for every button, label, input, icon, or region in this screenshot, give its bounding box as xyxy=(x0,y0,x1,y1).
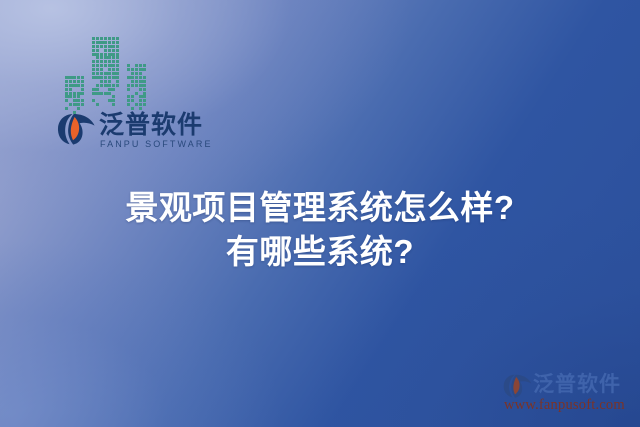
mosaic-pixel xyxy=(143,95,146,98)
mosaic-pixel xyxy=(96,56,99,59)
mosaic-pixel xyxy=(135,72,138,75)
mosaic-pixel xyxy=(81,88,84,91)
mosaic-pixel xyxy=(100,84,103,87)
mosaic-pixel xyxy=(104,92,111,95)
mosaic-pixel xyxy=(112,84,115,87)
mosaic-pixel xyxy=(139,103,142,106)
mosaic-pixel xyxy=(96,72,99,75)
mosaic-pixel xyxy=(108,56,111,59)
mosaic-pixel xyxy=(96,64,99,67)
mosaic-pixel xyxy=(112,68,115,71)
mosaic-pixel xyxy=(104,76,107,79)
mosaic-pixel xyxy=(112,95,115,98)
mosaic-pixel xyxy=(112,37,115,40)
mosaic-pixel xyxy=(81,84,84,87)
mosaic-pixel xyxy=(65,84,68,87)
mosaic-pixel xyxy=(108,72,111,75)
mosaic-pixel xyxy=(108,60,111,63)
mosaic-pixel xyxy=(139,99,142,102)
mosaic-pixel xyxy=(112,103,115,106)
fanpu-logo-name-cn: 泛普软件 xyxy=(99,111,203,139)
mosaic-pixel xyxy=(77,95,80,98)
mosaic-pixel xyxy=(127,84,130,87)
mosaic-pixel xyxy=(139,107,142,110)
headline-line-2: 有哪些系统? xyxy=(0,230,640,274)
mosaic-pixel xyxy=(77,80,80,83)
mosaic-pixel xyxy=(81,76,84,79)
mosaic-pixel xyxy=(104,49,107,52)
mosaic-pixel xyxy=(116,45,119,48)
mosaic-pixel xyxy=(108,80,111,83)
mosaic-pixel xyxy=(135,64,138,67)
watermark-url: www.fanpusoft.com xyxy=(504,397,625,414)
mosaic-pixel xyxy=(143,84,146,87)
mosaic-pixel xyxy=(108,41,111,44)
fanpu-logo: 泛普软件 FANPU SOFTWARE xyxy=(57,111,183,161)
mosaic-pixel xyxy=(143,88,146,91)
mosaic-pixel xyxy=(127,95,130,98)
mosaic-pixel xyxy=(92,41,95,44)
mosaic-pixel xyxy=(139,88,142,91)
mosaic-pixel xyxy=(108,37,111,40)
mosaic-pixel xyxy=(139,76,142,79)
mosaic-pixel xyxy=(127,64,130,67)
mosaic-pixel xyxy=(100,45,103,48)
mosaic-pixel xyxy=(92,68,95,71)
mosaic-pixel xyxy=(116,80,119,83)
mosaic-pixel xyxy=(143,68,146,71)
mosaic-pixel xyxy=(104,53,107,56)
mosaic-pixel xyxy=(92,60,95,63)
mosaic-pixel xyxy=(143,76,146,79)
mosaic-pixel xyxy=(100,72,103,75)
mosaic-pixel xyxy=(104,64,107,67)
mosaic-pixel xyxy=(112,41,115,44)
mosaic-pixel xyxy=(73,92,76,95)
mosaic-pixel xyxy=(131,107,134,110)
mosaic-pixel xyxy=(73,80,76,83)
fanpu-watermark-mark xyxy=(503,374,533,398)
mosaic-pixel xyxy=(65,88,68,91)
mosaic-pixel xyxy=(116,49,119,52)
mosaic-pixel xyxy=(143,99,146,102)
mosaic-pixel xyxy=(116,84,119,87)
mosaic-pixel xyxy=(96,92,103,95)
mosaic-pixel xyxy=(116,41,119,44)
mosaic-pixel xyxy=(69,103,72,106)
mosaic-pixel xyxy=(65,99,68,102)
mosaic-pixel xyxy=(112,60,115,63)
mosaic-pixel xyxy=(135,80,138,83)
mosaic-pixel xyxy=(127,88,130,91)
mosaic-pixel xyxy=(127,99,130,102)
mosaic-pixel xyxy=(112,88,115,91)
mosaic-pixel xyxy=(100,53,103,56)
mosaic-pixel xyxy=(116,53,119,56)
mosaic-pixel xyxy=(81,103,84,106)
mosaic-pixel xyxy=(81,99,84,102)
mosaic-pixel xyxy=(96,45,99,48)
mosaic-pixel xyxy=(96,53,99,56)
mosaic-pixel xyxy=(131,80,134,83)
mosaic-pixel xyxy=(112,56,115,59)
mosaic-pixel xyxy=(100,56,103,59)
mosaic-pixel xyxy=(116,72,119,75)
mosaic-pixel xyxy=(77,76,80,79)
mosaic-pixel xyxy=(104,80,107,83)
mosaic-pixel xyxy=(96,68,99,71)
promo-banner: 泛普软件 FANPU SOFTWARE 景观项目管理系统怎么样? 有哪些系统? … xyxy=(0,0,640,427)
mosaic-pixel xyxy=(135,84,138,87)
mosaic-pixel xyxy=(77,107,80,110)
mosaic-pixel xyxy=(100,37,103,40)
mosaic-pixel xyxy=(131,95,134,98)
mosaic-pixel xyxy=(100,60,103,63)
mosaic-pixel xyxy=(92,99,95,102)
mosaic-pixel xyxy=(104,37,107,40)
mosaic-pixel xyxy=(92,72,95,75)
mosaic-pixel xyxy=(127,68,130,71)
mosaic-pixel xyxy=(69,92,72,95)
mosaic-pixel xyxy=(116,60,119,63)
mosaic-pixel xyxy=(69,95,72,98)
mosaic-pixel xyxy=(81,80,84,83)
mosaic-pixel xyxy=(104,45,107,48)
fanpu-logo-name-en: FANPU SOFTWARE xyxy=(100,139,213,149)
mosaic-pixel xyxy=(143,103,146,106)
mosaic-pixel xyxy=(108,76,111,79)
mosaic-pixel xyxy=(104,41,107,44)
mosaic-pixel xyxy=(139,64,142,67)
mosaic-pixel xyxy=(77,99,80,102)
mosaic-pixel xyxy=(131,68,134,71)
mosaic-pixel xyxy=(100,76,103,79)
mosaic-pixel xyxy=(112,53,115,56)
mosaic-pixel xyxy=(112,49,115,52)
mosaic-pixel xyxy=(81,92,84,95)
mosaic-pixel xyxy=(108,99,115,102)
mosaic-pixel xyxy=(139,72,142,75)
watermark: 泛普软件 www.fanpusoft.com xyxy=(501,372,633,420)
mosaic-pixel xyxy=(127,103,130,106)
mosaic-pixel xyxy=(77,84,80,87)
mosaic-pixel xyxy=(96,103,99,106)
mosaic-pixel xyxy=(135,76,138,79)
mosaic-pixel xyxy=(135,103,138,106)
mosaic-pixel xyxy=(100,64,103,67)
mosaic-pixel xyxy=(100,68,103,71)
mosaic-pixel xyxy=(92,88,99,91)
mosaic-pixel xyxy=(73,76,76,79)
mosaic-pixel xyxy=(92,49,95,52)
mosaic-pixel xyxy=(131,99,134,102)
headline: 景观项目管理系统怎么样? 有哪些系统? xyxy=(0,186,640,274)
mosaic-pixel xyxy=(112,64,115,67)
mosaic-pixel xyxy=(131,76,134,79)
mosaic-pixel xyxy=(135,68,138,71)
mosaic-pixel xyxy=(96,84,99,87)
mosaic-pixel xyxy=(92,45,95,48)
mosaic-pixel xyxy=(143,92,146,95)
mosaic-pixel xyxy=(65,80,68,83)
mosaic-pixel xyxy=(116,68,119,71)
mosaic-pixel xyxy=(96,49,99,52)
mosaic-pixel xyxy=(143,80,146,83)
mosaic-pixel xyxy=(135,92,138,95)
mosaic-pixel xyxy=(108,49,111,52)
mosaic-pixel xyxy=(112,45,115,48)
mosaic-pixel xyxy=(116,56,119,59)
mosaic-pixel xyxy=(116,37,119,40)
watermark-name-cn: 泛普软件 xyxy=(533,372,621,397)
mosaic-pixel xyxy=(69,88,72,91)
mosaic-pixel xyxy=(116,64,119,67)
headline-line-1: 景观项目管理系统怎么样? xyxy=(0,186,640,230)
mosaic-pixel xyxy=(73,95,76,98)
mosaic-pixel xyxy=(96,37,99,40)
mosaic-pixel xyxy=(77,103,80,106)
mosaic-pixel xyxy=(108,84,111,87)
mosaic-pixel xyxy=(65,92,68,95)
pixel-mosaic-icon xyxy=(65,33,149,117)
mosaic-pixel xyxy=(143,64,146,67)
mosaic-pixel xyxy=(131,72,134,75)
mosaic-pixel xyxy=(69,80,72,83)
mosaic-pixel xyxy=(100,80,103,83)
mosaic-pixel xyxy=(112,76,119,79)
mosaic-pixel xyxy=(104,60,107,63)
mosaic-pixel xyxy=(65,107,68,110)
mosaic-pixel xyxy=(108,68,111,71)
mosaic-pixel xyxy=(96,60,99,63)
mosaic-pixel xyxy=(92,37,95,40)
fanpu-logo-mark xyxy=(57,113,97,145)
mosaic-pixel xyxy=(131,84,134,87)
mosaic-pixel xyxy=(92,64,95,67)
